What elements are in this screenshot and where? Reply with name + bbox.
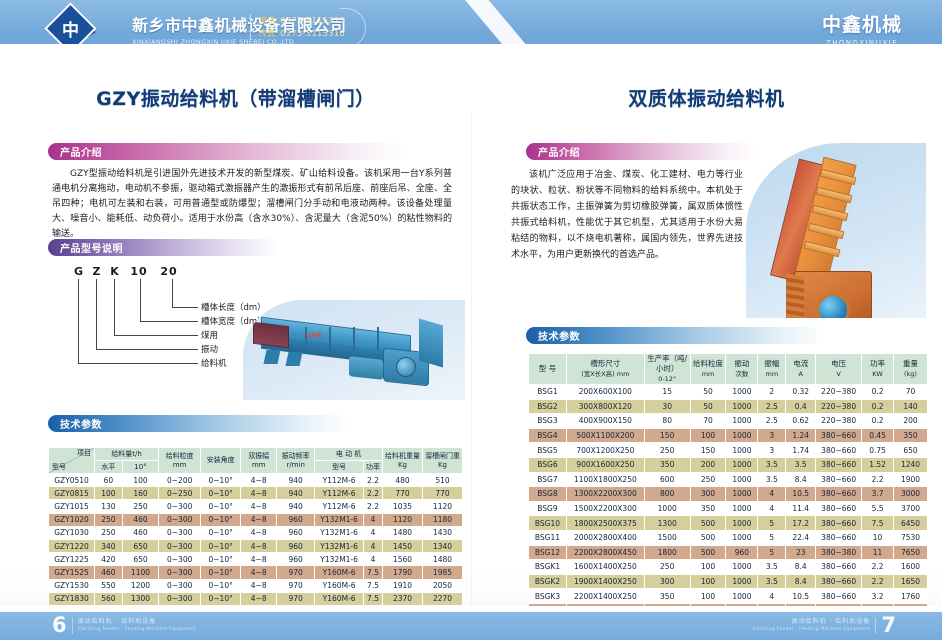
table-cell: 100 <box>690 589 726 604</box>
table-cell: 4 <box>758 589 786 604</box>
left-product-photo: ●中鑫 <box>243 300 465 400</box>
table-cell: 6450 <box>893 516 927 531</box>
machine-rib-3 <box>353 327 355 351</box>
table-cell: 100 <box>690 428 726 443</box>
machine-motor <box>349 356 383 380</box>
table-cell: 2370 <box>383 592 423 605</box>
table-cell: 1000 <box>726 414 758 429</box>
table-cell: 800 <box>644 487 690 502</box>
table-cell: 250 <box>95 513 123 526</box>
table-cell: 2270 <box>423 592 463 605</box>
table-cell: 3.5 <box>758 457 786 472</box>
table-cell: 23 <box>786 545 816 560</box>
table-cell: 1100X1800X250 <box>566 472 644 487</box>
table-cell: 550 <box>95 579 123 592</box>
footer-separator-left <box>72 618 73 634</box>
gate-weight-label: 溜槽闸门重 <box>423 452 462 461</box>
table-cell: 380~660 <box>816 428 862 443</box>
header-line-2: (kg) <box>894 369 927 379</box>
model-code-char-4: 20 <box>154 265 184 278</box>
model-code-char-3: 10 <box>124 265 154 278</box>
table-cell: 0.4 <box>786 399 816 414</box>
right-spec-table: 型 号槽形尺寸(宽X长X高) mm生产率（吨/小时）0-12°给料粒度mm振动次… <box>528 353 928 619</box>
leader-h-feeder <box>78 363 198 364</box>
table-cell: 380~660 <box>816 530 862 545</box>
table-cell: 340 <box>95 539 123 552</box>
header-line-1: 功率 <box>862 359 893 369</box>
table-cell: 1450 <box>383 539 423 552</box>
table-cell: 0~300 <box>159 553 201 566</box>
table-cell: 1340 <box>423 539 463 552</box>
group-header-feed-size: 给料粒度 mm <box>159 448 201 474</box>
contact-info: 电话: 0373-5115315 传真: 0373-5115316 <box>250 14 345 40</box>
table-cell: 4~8 <box>241 487 277 500</box>
amplitude-unit: mm <box>241 461 276 470</box>
bsg-spring-stack <box>786 273 804 318</box>
table-row: BSG112000X2800X40015005001000522.4380~66… <box>529 530 928 545</box>
table-cell: Y160M-6 <box>315 592 364 605</box>
header-line-2: 次数 <box>726 369 757 379</box>
corner-label-bottom: 型号 <box>52 463 66 472</box>
table-cell: 100 <box>95 487 123 500</box>
table-cell: 1300 <box>644 516 690 531</box>
table-cell: 2200X2800X450 <box>566 545 644 560</box>
table-cell: 4~8 <box>241 539 277 552</box>
table-cell: 380~660 <box>816 574 862 589</box>
table-row: BSG5700X1200X250250150100031.74380~6600.… <box>529 443 928 458</box>
page-spine <box>471 114 472 640</box>
table-cell: 4~8 <box>241 526 277 539</box>
table-cell: 0.2 <box>862 414 894 429</box>
model-label-4: 给料机 <box>201 357 227 369</box>
model-code-char-0: G <box>70 265 88 278</box>
fax-line: 传真: 0373-5115316 <box>259 27 345 40</box>
table-cell: 1000 <box>644 501 690 516</box>
table-cell: 0~10° <box>201 526 241 539</box>
frequency-unit: r/min <box>277 461 314 470</box>
table-cell: 200 <box>690 457 726 472</box>
table-cell: Y132M1-6 <box>315 513 364 526</box>
table-cell: 0~10° <box>201 487 241 500</box>
table-cell: 0~10° <box>201 513 241 526</box>
table-cell: 500 <box>690 516 726 531</box>
table-row: BSGK21900X1400X25030010010003.58.4380~66… <box>529 574 928 589</box>
group-header-motor: 电 动 机 <box>315 448 383 461</box>
table-cell: 900X1600X250 <box>566 457 644 472</box>
header-line-1: 生产率（吨/小时） <box>645 354 690 374</box>
table-cell: 1000 <box>726 530 758 545</box>
table-cell-model: BSG12 <box>529 545 567 560</box>
right-page-footer: 振动给料机 · 给料机设备 Vibrating Feeder · Feeding… <box>752 616 896 635</box>
model-label-2: 煤用 <box>201 329 218 341</box>
right-intro-text: 该机广泛应用于冶金、煤炭、化工建材、电力等行业的块状、粒状、粉状等不同物料的给料… <box>511 167 743 263</box>
table-cell: 2.2 <box>364 500 383 513</box>
table-cell: Y160M-6 <box>315 579 364 592</box>
table-cell-model: BSG1 <box>529 385 567 400</box>
table-cell: 380~380 <box>816 545 862 560</box>
table-cell-model: GZY1015 <box>49 500 95 513</box>
table-cell: 70 <box>893 385 927 400</box>
table-cell: 1000 <box>726 385 758 400</box>
table-cell: 300 <box>690 487 726 502</box>
table-cell: Y132M1-6 <box>315 553 364 566</box>
table-cell-model: GZY1225 <box>49 553 95 566</box>
table-cell: 3.7 <box>862 487 894 502</box>
left-intro-text: GZY型振动给料机是引进国外先进技术开发的新型煤炭、矿山给料设备。该机采用一台Y… <box>52 167 452 242</box>
table-row: BSG4500X1100X200150100100031.24380~6600.… <box>529 428 928 443</box>
right-header-cell: 振幅mm <box>758 354 786 385</box>
table-cell: 380~660 <box>816 443 862 458</box>
table-cell-model: GZY1220 <box>49 539 95 552</box>
table-cell: 0~250 <box>159 487 201 500</box>
right-header-cell: 型 号 <box>529 354 567 385</box>
right-spec-table-body: BSG1200X600X1001550100020.32220~3800.270… <box>529 385 928 619</box>
machine-rib-4 <box>377 327 379 351</box>
subheader-motor-power: 功率 <box>364 461 383 474</box>
table-cell: 460 <box>122 526 158 539</box>
frequency-label: 振动频率 <box>277 452 314 461</box>
table-cell: 0~300 <box>159 592 201 605</box>
table-cell: 15 <box>644 385 690 400</box>
feed-size-label: 给料粒度 <box>159 452 200 461</box>
table-cell: 3000 <box>893 487 927 502</box>
table-cell: 5.5 <box>862 501 894 516</box>
table-cell-model: BSG7 <box>529 472 567 487</box>
left-footer-cn: 振动给料机 · 给料机设备 <box>78 618 197 626</box>
machine-support-1 <box>264 350 281 364</box>
table-cell: 0.45 <box>862 428 894 443</box>
right-footer-cn: 振动给料机 · 给料机设备 <box>752 618 871 626</box>
table-cell: 2.2 <box>364 474 383 487</box>
table-cell: 3.5 <box>786 457 816 472</box>
right-intro-heading-bar: 产品介绍 <box>526 143 756 160</box>
table-cell: 0~300 <box>159 526 201 539</box>
table-cell: 300 <box>644 574 690 589</box>
table-cell: 7.5 <box>364 566 383 579</box>
right-page: 双质体振动给料机 产品介绍 该机广泛应用于冶金、煤炭、化工建材、电力等行业的块状… <box>471 57 942 640</box>
table-cell: 1000 <box>726 457 758 472</box>
leader-line-width <box>140 279 141 321</box>
table-cell: 1600 <box>893 560 927 575</box>
right-header-cell: 电压V <box>816 354 862 385</box>
right-product-photo <box>746 143 926 318</box>
subheader-motor-model: 型号 <box>315 461 364 474</box>
table-cell: 4 <box>758 501 786 516</box>
table-cell: 0~300 <box>159 566 201 579</box>
table-cell: 700X1200X250 <box>566 443 644 458</box>
table-cell: 250 <box>95 526 123 539</box>
table-cell: 130 <box>95 500 123 513</box>
table-cell: 770 <box>423 487 463 500</box>
subheader-horizontal: 水平 <box>95 461 123 474</box>
table-cell: 650 <box>122 539 158 552</box>
leader-line-length <box>172 279 173 307</box>
telephone-label: 电话: <box>259 16 278 25</box>
corner-header-cell: 项目 型号 <box>49 448 95 474</box>
table-cell: 1300X2200X300 <box>566 487 644 502</box>
table-cell: 2.5 <box>758 414 786 429</box>
table-cell: 4 <box>364 513 383 526</box>
table-cell: 970 <box>277 592 315 605</box>
table-cell-model: GZY0815 <box>49 487 95 500</box>
table-cell: 1800 <box>644 545 690 560</box>
machine-brand-mark: ●中鑫 <box>307 332 321 339</box>
machine-exciter-wheel <box>396 357 416 377</box>
right-header-cell: 生产率（吨/小时）0-12° <box>644 354 690 385</box>
table-cell: 3.2 <box>862 589 894 604</box>
machine-inlet-hood <box>253 322 289 348</box>
machine-discharge-end <box>419 319 443 368</box>
table-cell: 4~8 <box>241 513 277 526</box>
table-row: BSG6900X1600X25035020010003.53.5380~6601… <box>529 457 928 472</box>
table-cell: 200 <box>893 414 927 429</box>
table-cell: 960 <box>277 553 315 566</box>
table-cell: 4~8 <box>241 500 277 513</box>
table-cell: 7530 <box>893 530 927 545</box>
table-cell-model: BSGK1 <box>529 560 567 575</box>
table-cell: 460 <box>122 513 158 526</box>
gate-weight-unit: Kg <box>423 461 462 470</box>
group-header-feed-rate: 给料量t/h <box>95 448 159 461</box>
table-row: GZY153055012000~3000~10°4~8970Y160M-67.5… <box>49 579 463 592</box>
table-cell: 4~8 <box>241 474 277 487</box>
table-cell: 0.62 <box>786 414 816 429</box>
right-header-cell: 给料粒度mm <box>690 354 726 385</box>
right-spec-table-head: 型 号槽形尺寸(宽X长X高) mm生产率（吨/小时）0-12°给料粒度mm振动次… <box>529 354 928 385</box>
table-row: GZY152546011000~3000~10°4~8970Y160M-67.5… <box>49 566 463 579</box>
table-cell: 940 <box>277 500 315 513</box>
table-cell: Y132M1-6 <box>315 539 364 552</box>
table-cell: 22.4 <box>786 530 816 545</box>
right-page-title: 双质体振动给料机 <box>471 84 942 111</box>
table-cell: 0.75 <box>862 443 894 458</box>
table-cell: 1000 <box>726 574 758 589</box>
table-cell: Y160M-6 <box>315 566 364 579</box>
table-cell: 1035 <box>383 500 423 513</box>
table-cell: 4~8 <box>241 592 277 605</box>
machine-support-2 <box>286 352 303 366</box>
table-cell: 140 <box>893 399 927 414</box>
table-cell: Y112M-6 <box>315 474 364 487</box>
leader-h-vibrate <box>96 349 198 350</box>
right-header-cell: 振动次数 <box>726 354 758 385</box>
table-cell: 0~10° <box>201 592 241 605</box>
left-page-number: 6 <box>52 616 67 635</box>
right-footer-caption: 振动给料机 · 给料机设备 Vibrating Feeder · Feeding… <box>752 618 871 634</box>
table-cell: 1900 <box>893 472 927 487</box>
fax-value: 0373-5115316 <box>280 29 345 38</box>
table-cell: 1000 <box>726 399 758 414</box>
table-cell: 100 <box>690 560 726 575</box>
table-cell: 3.5 <box>758 560 786 575</box>
telephone-value: 0373-5115315 <box>280 16 345 25</box>
table-cell: 150 <box>690 443 726 458</box>
table-cell: 350 <box>644 457 690 472</box>
left-params-heading: 技术参数 <box>48 416 102 431</box>
header-line-2: mm <box>758 369 785 379</box>
table-cell: 250 <box>122 500 158 513</box>
table-cell-model: BSGK3 <box>529 589 567 604</box>
table-header-row-1: 项目 型号 给料量t/h 给料粒度 mm 安装角度 双振幅 mm <box>49 448 463 461</box>
table-cell: 970 <box>277 566 315 579</box>
left-params-heading-bar: 技术参数 <box>48 415 348 432</box>
table-cell: 10 <box>862 530 894 545</box>
right-table-header-row: 型 号槽形尺寸(宽X长X高) mm生产率（吨/小时）0-12°给料粒度mm振动次… <box>529 354 928 385</box>
table-cell: 8.4 <box>786 560 816 575</box>
leader-h-width <box>140 321 198 322</box>
table-cell: 380~660 <box>816 516 862 531</box>
table-cell: 5 <box>758 516 786 531</box>
table-row: BSG81300X2200X3008003001000410.5380~6603… <box>529 487 928 502</box>
table-cell: 970 <box>277 579 315 592</box>
table-cell: 1120 <box>383 513 423 526</box>
table-cell: 380~660 <box>816 501 862 516</box>
table-cell: 1200 <box>122 579 158 592</box>
table-cell: 1480 <box>383 526 423 539</box>
table-cell: 1000 <box>726 589 758 604</box>
table-cell: 250 <box>690 472 726 487</box>
table-cell: 1000 <box>726 516 758 531</box>
table-cell: 960 <box>277 526 315 539</box>
table-cell: 1985 <box>423 566 463 579</box>
table-cell: 150 <box>644 428 690 443</box>
table-cell: 100 <box>690 574 726 589</box>
table-cell: 1790 <box>383 566 423 579</box>
table-cell: 400X900X150 <box>566 414 644 429</box>
right-header-cell: 重量(kg) <box>893 354 927 385</box>
table-cell: 220~380 <box>816 399 862 414</box>
table-cell: Y112M-6 <box>315 487 364 500</box>
model-code-char-1: Z <box>88 265 106 278</box>
table-cell: 1120 <box>423 500 463 513</box>
table-cell: 7650 <box>893 545 927 560</box>
table-cell: 380~660 <box>816 589 862 604</box>
table-cell: 100 <box>122 474 158 487</box>
table-row: BSGK32200X1400X2503501001000410.5380~660… <box>529 589 928 604</box>
table-cell: 80 <box>644 414 690 429</box>
table-cell: 0~300 <box>159 500 201 513</box>
table-cell: 160 <box>122 487 158 500</box>
table-cell: Y132M1-6 <box>315 526 364 539</box>
model-label-3: 振动 <box>201 343 218 355</box>
leader-h-length <box>172 307 198 308</box>
table-cell: 3700 <box>893 501 927 516</box>
table-cell: 4 <box>364 539 383 552</box>
table-cell: 940 <box>277 487 315 500</box>
table-cell: 1560 <box>383 553 423 566</box>
header-line-2: V <box>816 369 861 379</box>
table-cell: 2.5 <box>758 399 786 414</box>
table-cell: 0.2 <box>862 385 894 400</box>
table-cell: 350 <box>644 589 690 604</box>
table-cell: 0~10° <box>201 500 241 513</box>
table-cell: 2.2 <box>364 487 383 500</box>
table-cell: 4 <box>758 487 786 502</box>
model-label-0: 槽体长度（dm） <box>201 301 266 313</box>
table-row: GZY183056013000~3000~10°4~8970Y160M-67.5… <box>49 592 463 605</box>
left-page-title: GZY振动给料机（带溜槽闸门） <box>0 84 471 111</box>
table-cell: 50 <box>690 385 726 400</box>
table-cell-model: BSG5 <box>529 443 567 458</box>
table-cell-model: BSGK2 <box>529 574 567 589</box>
leader-line-k <box>114 279 115 335</box>
right-params-heading: 技术参数 <box>526 328 580 343</box>
header-line-1: 电流 <box>786 359 815 369</box>
brand-mark: 中鑫机械 ZHONGXINJIXIE <box>822 10 902 47</box>
table-cell: 1.52 <box>862 457 894 472</box>
table-cell: 1000 <box>726 472 758 487</box>
right-params-heading-bar: 技术参数 <box>526 327 826 344</box>
table-cell: 1000 <box>726 428 758 443</box>
table-cell: 1500X2200X300 <box>566 501 644 516</box>
machine-weight-unit: Kg <box>383 461 422 470</box>
header-line-1: 槽形尺寸 <box>567 359 644 369</box>
table-cell-model: GZY1020 <box>49 513 95 526</box>
model-heading-bar: 产品型号说明 <box>48 239 278 256</box>
table-cell: 7.5 <box>364 592 383 605</box>
table-row: BSG2300X800X120305010002.50.4220~3800.21… <box>529 399 928 414</box>
leader-line-z <box>96 279 97 349</box>
group-header-frequency: 振动频率 r/min <box>277 448 315 474</box>
table-cell: 17.2 <box>786 516 816 531</box>
table-cell: 1300 <box>122 592 158 605</box>
table-cell: 1800X2500X375 <box>566 516 644 531</box>
header-line-1: 给料粒度 <box>691 359 726 369</box>
table-cell: 0~10° <box>201 539 241 552</box>
table-cell: 960 <box>277 513 315 526</box>
table-cell: 3 <box>758 443 786 458</box>
table-cell: 1500 <box>644 530 690 545</box>
table-cell: 0~200 <box>159 474 201 487</box>
table-row: BSG91500X2200X30010003501000411.4380~660… <box>529 501 928 516</box>
table-cell: 300X800X120 <box>566 399 644 414</box>
table-cell: 1180 <box>423 513 463 526</box>
table-row: BSG1200X600X1001550100020.32220~3800.270 <box>529 385 928 400</box>
table-cell: 0~10° <box>201 566 241 579</box>
table-cell: 2 <box>758 385 786 400</box>
table-cell: 560 <box>95 592 123 605</box>
header-line-2: 0-12° <box>645 374 690 384</box>
table-cell: 600 <box>644 472 690 487</box>
table-cell: 510 <box>423 474 463 487</box>
table-cell: 5 <box>758 530 786 545</box>
table-cell-model: GZY1030 <box>49 526 95 539</box>
table-cell: 2.2 <box>862 560 894 575</box>
right-header-cell: 电流A <box>786 354 816 385</box>
page-header: 中 新乡市中鑫机械设备有限公司 XINXIANGSHI ZHONGXIN JIX… <box>0 0 942 57</box>
table-row: GZY10302504600~3000~10°4~8960Y132M1-6414… <box>49 526 463 539</box>
table-row: BSG122200X2800X4501800500960523380~38011… <box>529 545 928 560</box>
table-cell: 1240 <box>893 457 927 472</box>
table-cell: 220~380 <box>816 414 862 429</box>
table-cell: 7.5 <box>364 579 383 592</box>
table-row: GZY08151001600~2500~10°4~8940Y112M-62.27… <box>49 487 463 500</box>
machine-weight-label: 给料机重量 <box>383 452 422 461</box>
fax-label: 传真: <box>259 29 278 38</box>
header-line-2: (宽X长X高) mm <box>567 369 644 379</box>
table-cell: 0~10° <box>201 474 241 487</box>
table-cell: 1430 <box>423 526 463 539</box>
table-cell: 0.32 <box>786 385 816 400</box>
header-white-band <box>0 44 942 57</box>
table-cell: 1900X1400X250 <box>566 574 644 589</box>
table-cell-model: BSG3 <box>529 414 567 429</box>
table-cell: 70 <box>690 414 726 429</box>
table-cell-model: BSG6 <box>529 457 567 472</box>
table-cell: 8.4 <box>786 472 816 487</box>
table-cell: 480 <box>383 474 423 487</box>
table-cell: 380~660 <box>816 472 862 487</box>
